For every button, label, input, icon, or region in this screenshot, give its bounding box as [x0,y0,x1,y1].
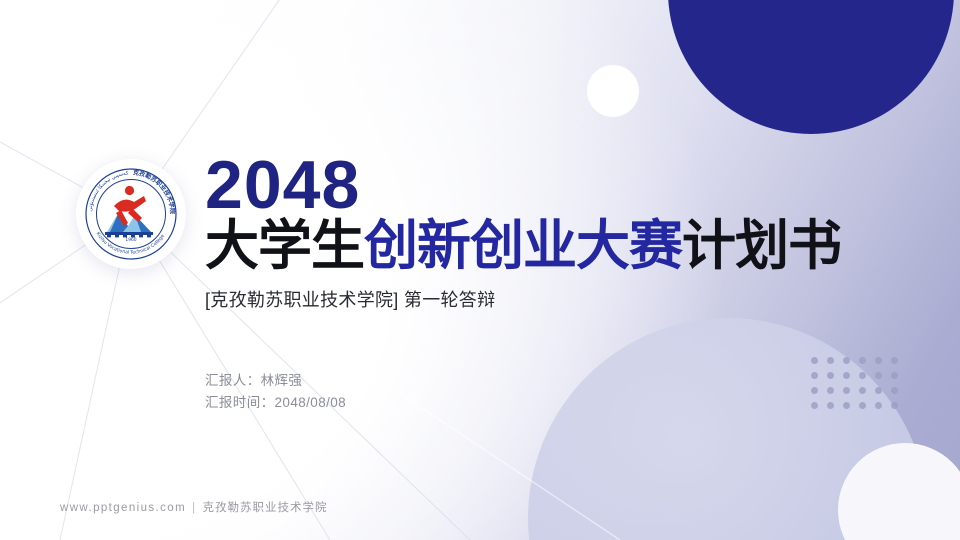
institution-logo: قىزىلسۇ كەسپىي تېخنىكا ئىنستىتۇتى 克孜勒苏职业… [76,159,186,269]
white-dot-decoration [587,65,639,117]
subtitle: [克孜勒苏职业技术学院] 第一轮答辩 [205,288,885,312]
presenter-meta: 汇报人：林辉强 汇报时间：2048/08/08 [205,370,346,414]
title-block: 2048 大学生创新创业大赛计划书 [克孜勒苏职业技术学院] 第一轮答辩 [205,152,885,312]
footer: www.pptgenius.com|克孜勒苏职业技术学院 [60,500,327,516]
presentation-date: 汇报时间：2048/08/08 [205,392,346,414]
headline-segment-black-1: 大学生 [205,216,364,276]
footer-organization: 克孜勒苏职业技术学院 [202,502,327,514]
headline-segment-blue: 创新创业大赛 [364,216,682,276]
presentation-title-slide: قىزىلسۇ كەسپىي تېخنىكا ئىنستىتۇتى 克孜勒苏职业… [0,0,960,540]
year-heading: 2048 [205,152,885,218]
footer-website: www.pptgenius.com [60,502,186,514]
main-headline: 大学生创新创业大赛计划书 [205,216,885,276]
college-emblem-icon: قىزىلسۇ كەسپىي تېخنىكا ئىنستىتۇتى 克孜勒苏职业… [83,166,179,262]
dot-grid-decoration [806,353,902,413]
svg-text:1960: 1960 [125,237,136,243]
presenter-name: 汇报人：林辉强 [205,370,346,392]
footer-separator: | [192,502,196,514]
headline-segment-black-2: 计划书 [682,216,841,276]
